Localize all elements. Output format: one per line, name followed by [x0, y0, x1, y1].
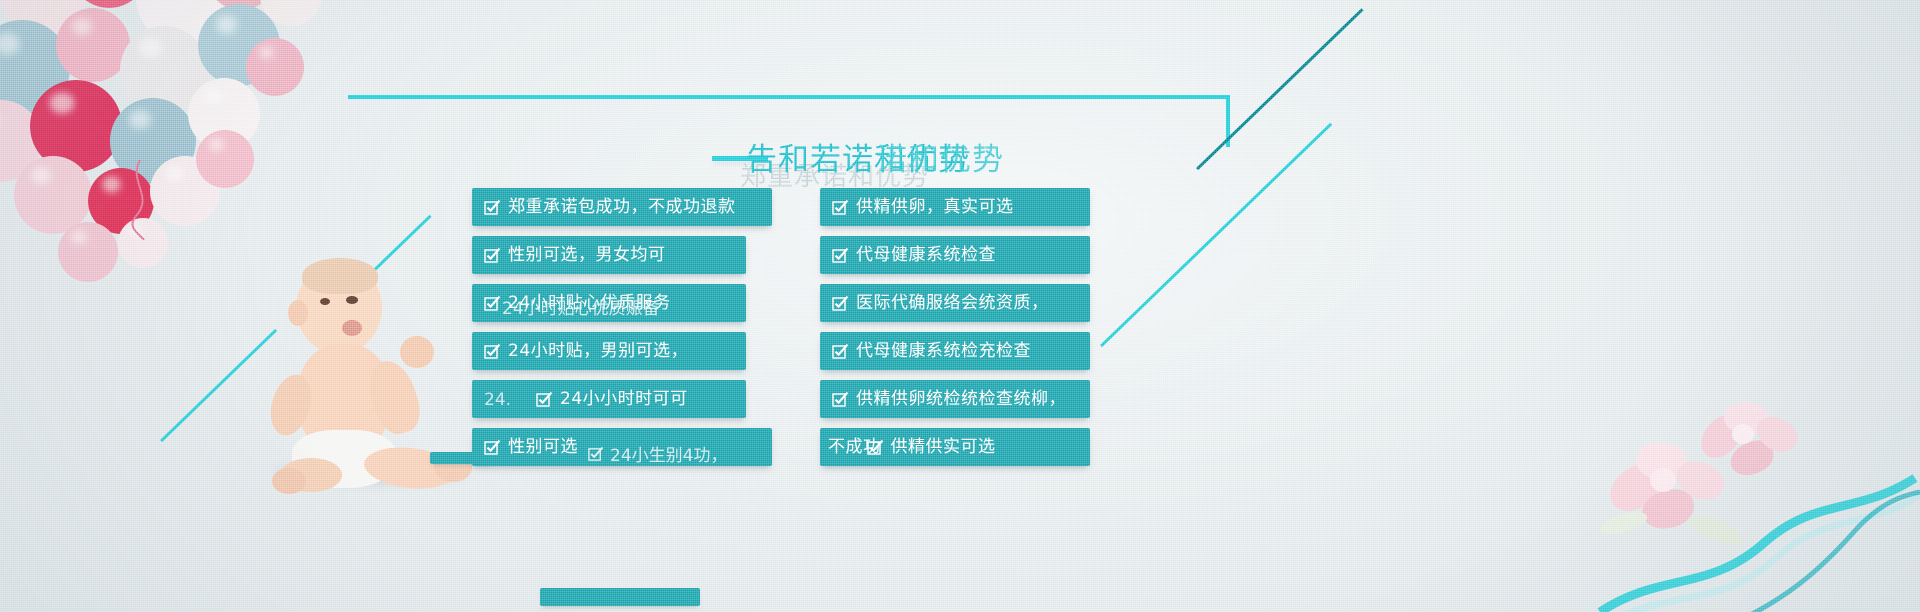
- checkbox-checked-icon: [832, 343, 849, 360]
- benefit-label: 24小时贴，男别可选，: [508, 343, 688, 360]
- benefit-label: 供精供卵统检统检查统柳，: [856, 391, 1066, 408]
- benefit-label: 性别可选: [508, 439, 578, 456]
- frame-top-line: [348, 95, 1230, 99]
- banner-stage: 郑重承诺和优势 告和若诺和优势 诺和优势: [0, 0, 1920, 612]
- checkbox-checked-icon: [867, 439, 884, 456]
- checkbox-checked-icon: [832, 199, 849, 216]
- benefit-label-alt: 24小小时时可可: [560, 391, 688, 408]
- benefit-item[interactable]: 24小时贴，男别可选，: [472, 332, 746, 370]
- benefit-label: 代母健康系统检查: [856, 247, 996, 264]
- checkbox-checked-icon: [484, 199, 501, 216]
- benefit-label: 供精供实可选: [891, 439, 996, 456]
- pink-flowers-and-ribbon: [1590, 402, 1920, 612]
- benefit-item[interactable]: 性别可选 24小生别4功，: [472, 428, 772, 466]
- benefit-item[interactable]: 代母健康系统检充检查: [820, 332, 1090, 370]
- benefit-item[interactable]: 郑重承诺包成功，不成功退款: [472, 188, 772, 226]
- benefit-label-ghost: 24小生别4功，: [588, 441, 727, 466]
- benefit-item[interactable]: 医际代确服络会统资质，: [820, 284, 1090, 322]
- page-title-overlay: 诺和优势: [876, 134, 1396, 179]
- benefit-label: 供精供卵，真实可选: [856, 199, 1014, 216]
- benefit-item[interactable]: 24. 24小小时时可可: [472, 380, 746, 418]
- checkbox-checked-icon: [484, 439, 501, 456]
- benefits-column-right: 供精供卵，真实可选 代母健康系统检查 医际代确服络会统资质， 代母健康系统检充检…: [820, 188, 1090, 476]
- benefit-label: 医际代确服络会统资质，: [856, 295, 1049, 312]
- benefit-label-ghost: 24.: [484, 390, 511, 410]
- checkbox-checked-icon: [536, 391, 553, 408]
- diagonal-line-bottom-left: [160, 329, 277, 442]
- benefit-item[interactable]: 不成功 供精供实可选: [820, 428, 1090, 466]
- page-title: 郑重承诺和优势 告和若诺和优势 诺和优势: [700, 128, 1220, 184]
- decor-bar-bottom: [540, 588, 700, 606]
- checkbox-checked-icon: [484, 295, 501, 312]
- balloon-string-icon: [110, 160, 170, 240]
- checkbox-checked-icon: [832, 295, 849, 312]
- benefit-label: 性别可选，男女均可: [508, 247, 666, 264]
- benefit-label-ghost: 24小时贴心优质赈备: [502, 294, 660, 319]
- benefit-item[interactable]: 供精供卵统检统检查统柳，: [820, 380, 1090, 418]
- checkbox-checked-icon: [484, 247, 501, 264]
- benefit-label: 代母健康系统检充检查: [856, 343, 1031, 360]
- sitting-baby-photo: [268, 262, 478, 512]
- benefit-item[interactable]: 代母健康系统检查: [820, 236, 1090, 274]
- benefit-label: 郑重承诺包成功，不成功退款: [508, 199, 736, 216]
- balloon-cluster-heart: [0, 0, 380, 290]
- checkbox-checked-icon: [832, 247, 849, 264]
- benefit-item[interactable]: 24小时贴心优质服务 24小时贴心优质赈备: [472, 284, 746, 322]
- benefits-column-left: 郑重承诺包成功，不成功退款 性别可选，男女均可 24小时贴心优质服务 24小时贴…: [472, 188, 746, 476]
- benefit-item[interactable]: 性别可选，男女均可: [472, 236, 746, 274]
- benefit-item[interactable]: 供精供卵，真实可选: [820, 188, 1090, 226]
- checkbox-checked-icon: [484, 343, 501, 360]
- checkbox-checked-icon: [832, 391, 849, 408]
